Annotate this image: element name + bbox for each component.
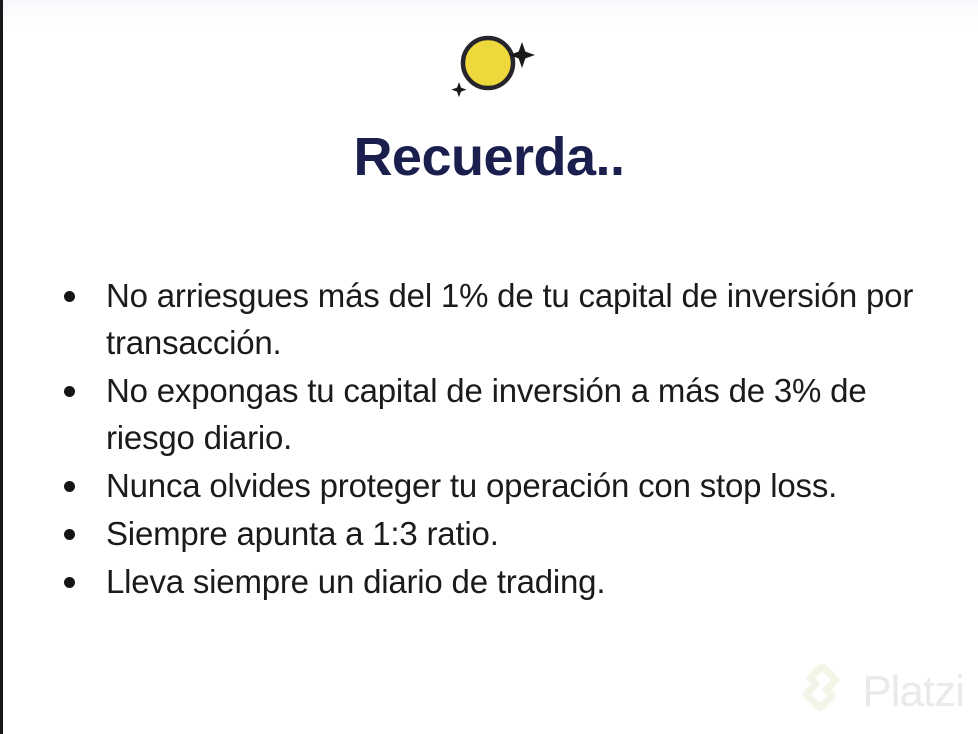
left-edge-strip (0, 0, 3, 734)
top-gradient-wash (3, 0, 978, 26)
platzi-watermark: Platzi (796, 664, 964, 720)
list-item: Lleva siempre un diario de trading. (58, 558, 938, 605)
list-item-text: No expongas tu capital de inversión a má… (106, 372, 866, 456)
list-item-text: Lleva siempre un diario de trading. (106, 563, 605, 600)
list-item-text: No arriesgues más del 1% de tu capital d… (106, 277, 913, 361)
list-item: No expongas tu capital de inversión a má… (58, 367, 938, 461)
list-item: Nunca olvides proteger tu operación con … (58, 462, 938, 509)
bullet-icon (64, 577, 75, 588)
platzi-wordmark: Platzi (862, 670, 964, 714)
page-title: Recuerda.. (0, 128, 978, 187)
list-item-text: Nunca olvides proteger tu operación con … (106, 467, 837, 504)
list-item-text: Siempre apunta a 1:3 ratio. (106, 515, 499, 552)
bullet-icon (64, 386, 75, 397)
bullet-icon (64, 481, 75, 492)
slide-canvas: Recuerda.. No arriesgues más del 1% de t… (0, 0, 978, 734)
bullet-icon (64, 529, 75, 540)
list-item: Siempre apunta a 1:3 ratio. (58, 510, 938, 557)
list-item: No arriesgues más del 1% de tu capital d… (58, 272, 938, 366)
sun-sparkle-icon (444, 26, 540, 104)
platzi-diamond-logo (796, 664, 852, 720)
bullet-icon (64, 291, 75, 302)
reminder-list: No arriesgues más del 1% de tu capital d… (58, 272, 938, 606)
